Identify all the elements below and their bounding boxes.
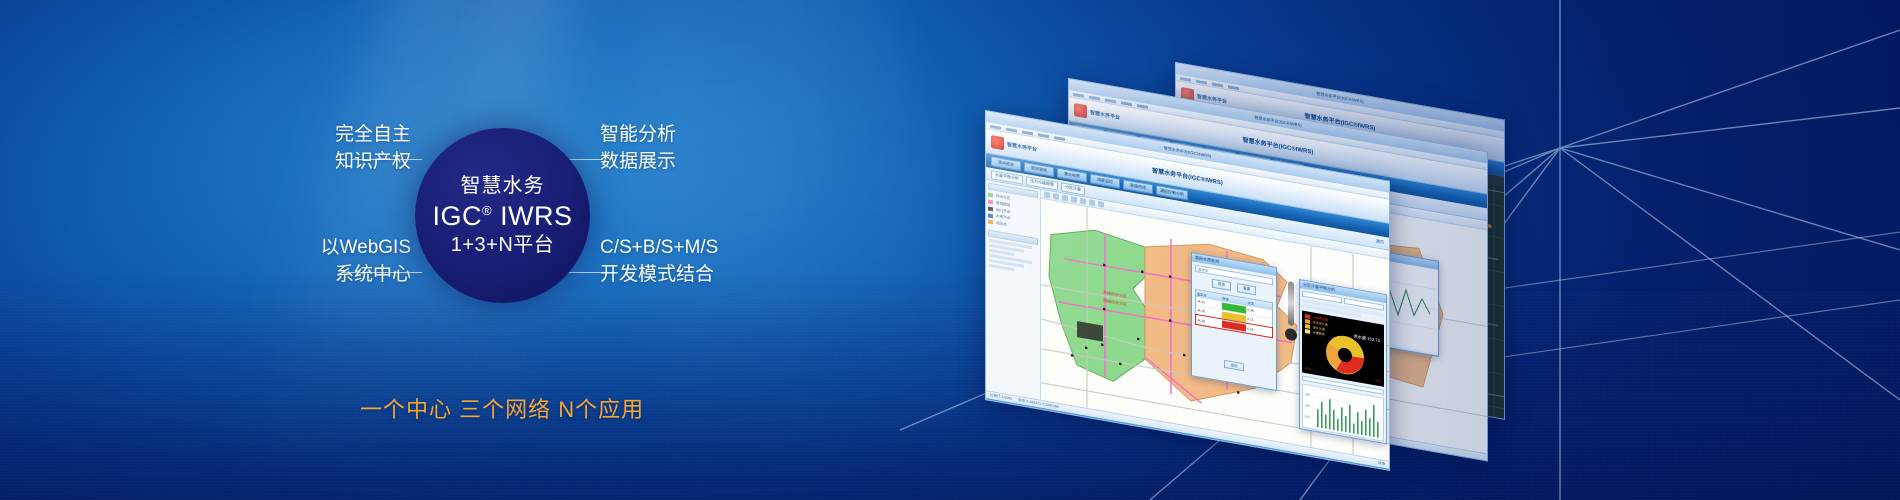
pie-label-right: 42% <box>1375 378 1381 383</box>
brand-title: 智慧水务平台(IGC®IWRS) <box>1243 135 1314 156</box>
feature-top-right-line1: 智能分析 <box>600 122 676 149</box>
feature-bottom-right-line2: 开发模式结合 <box>600 262 718 289</box>
feature-bottom-left: 以WebGIS 系统中心 <box>296 235 411 289</box>
feature-top-left: 完全自主 知识产权 <box>306 122 411 176</box>
layer-color-swatch <box>988 220 993 225</box>
feature-top-left-line2: 知识产权 <box>306 149 411 176</box>
hub-iwrs: IWRS <box>500 201 573 231</box>
status-bar-cell <box>1222 320 1247 331</box>
tagline: 一个中心 三个网络 N个应用 <box>360 392 644 424</box>
layer-panel[interactable]: 供水分区 管线图层 阀门节点 水表节点 测压点 <box>986 180 1041 400</box>
layer-color-swatch <box>988 213 993 218</box>
zoom-slider[interactable] <box>1288 281 1294 326</box>
pie-chart-panel: 计费用水量 免费用水量 漏失水量 计量损 <box>1302 310 1384 386</box>
pie-label-left: 28% <box>1305 366 1311 371</box>
balance-analysis-dialog[interactable]: 分区计量平衡分析 <box>1299 279 1387 444</box>
feature-top-right-line2: 数据展示 <box>600 149 676 176</box>
brand-name: 智慧水务平台 <box>1090 109 1120 121</box>
dialog-reset-button[interactable]: 重置 <box>1237 283 1256 295</box>
hub-line1: 智慧水务 <box>461 175 545 197</box>
hub-igc: IGC <box>432 201 482 231</box>
layer-label: 测压点 <box>996 221 1007 227</box>
toolbar-right-links[interactable]: 首页 <box>1376 238 1384 245</box>
registered-icon: ® <box>482 203 492 218</box>
feature-bottom-right: C/S+B/S+M/S 开发模式结合 <box>600 235 718 289</box>
layer-color-swatch <box>988 206 993 211</box>
feature-bottom-right-line1: C/S+B/S+M/S <box>600 235 718 262</box>
banner-root: 智慧水务平台(IGC®IWRS) 智慧水务平台 智慧水务平台(IGC®IWRS)… <box>0 0 1900 500</box>
feature-bottom-left-line1: 以WebGIS <box>296 235 411 262</box>
app-logo-icon <box>991 135 1004 150</box>
brand-title: 智慧水务平台(IGC®IWRS) <box>1152 165 1223 186</box>
hub-line2: IGC® IWRS <box>432 202 572 230</box>
feature-bottom-left-line2: 系统中心 <box>296 262 411 289</box>
pan-pad-icon[interactable] <box>1285 328 1297 342</box>
pie-chart-svg <box>1322 328 1368 382</box>
brand-name: 智慧水务平台 <box>1007 141 1037 153</box>
dialog-ok-button[interactable]: 查询 <box>1224 360 1245 372</box>
hub-line3: 1+3+N平台 <box>451 234 555 256</box>
feature-top-left-line1: 完全自主 <box>306 122 411 149</box>
feature-top-right: 智能分析 数据展示 <box>600 122 676 176</box>
dialog-query-button[interactable]: 查询 <box>1212 279 1231 291</box>
water-quality-dialog[interactable]: 管网水质监测 监测点 查询 重置 监测点 <box>1191 252 1277 391</box>
layer-color-swatch <box>988 199 993 204</box>
app-logo-icon <box>1074 103 1087 118</box>
layer-color-swatch <box>988 193 993 198</box>
hub-circle: 智慧水务 IGC® IWRS 1+3+N平台 <box>415 128 590 303</box>
layer-label: 管线图层 <box>996 201 1010 208</box>
map-navigation-control[interactable] <box>1285 281 1297 361</box>
background-texture <box>0 290 1900 500</box>
